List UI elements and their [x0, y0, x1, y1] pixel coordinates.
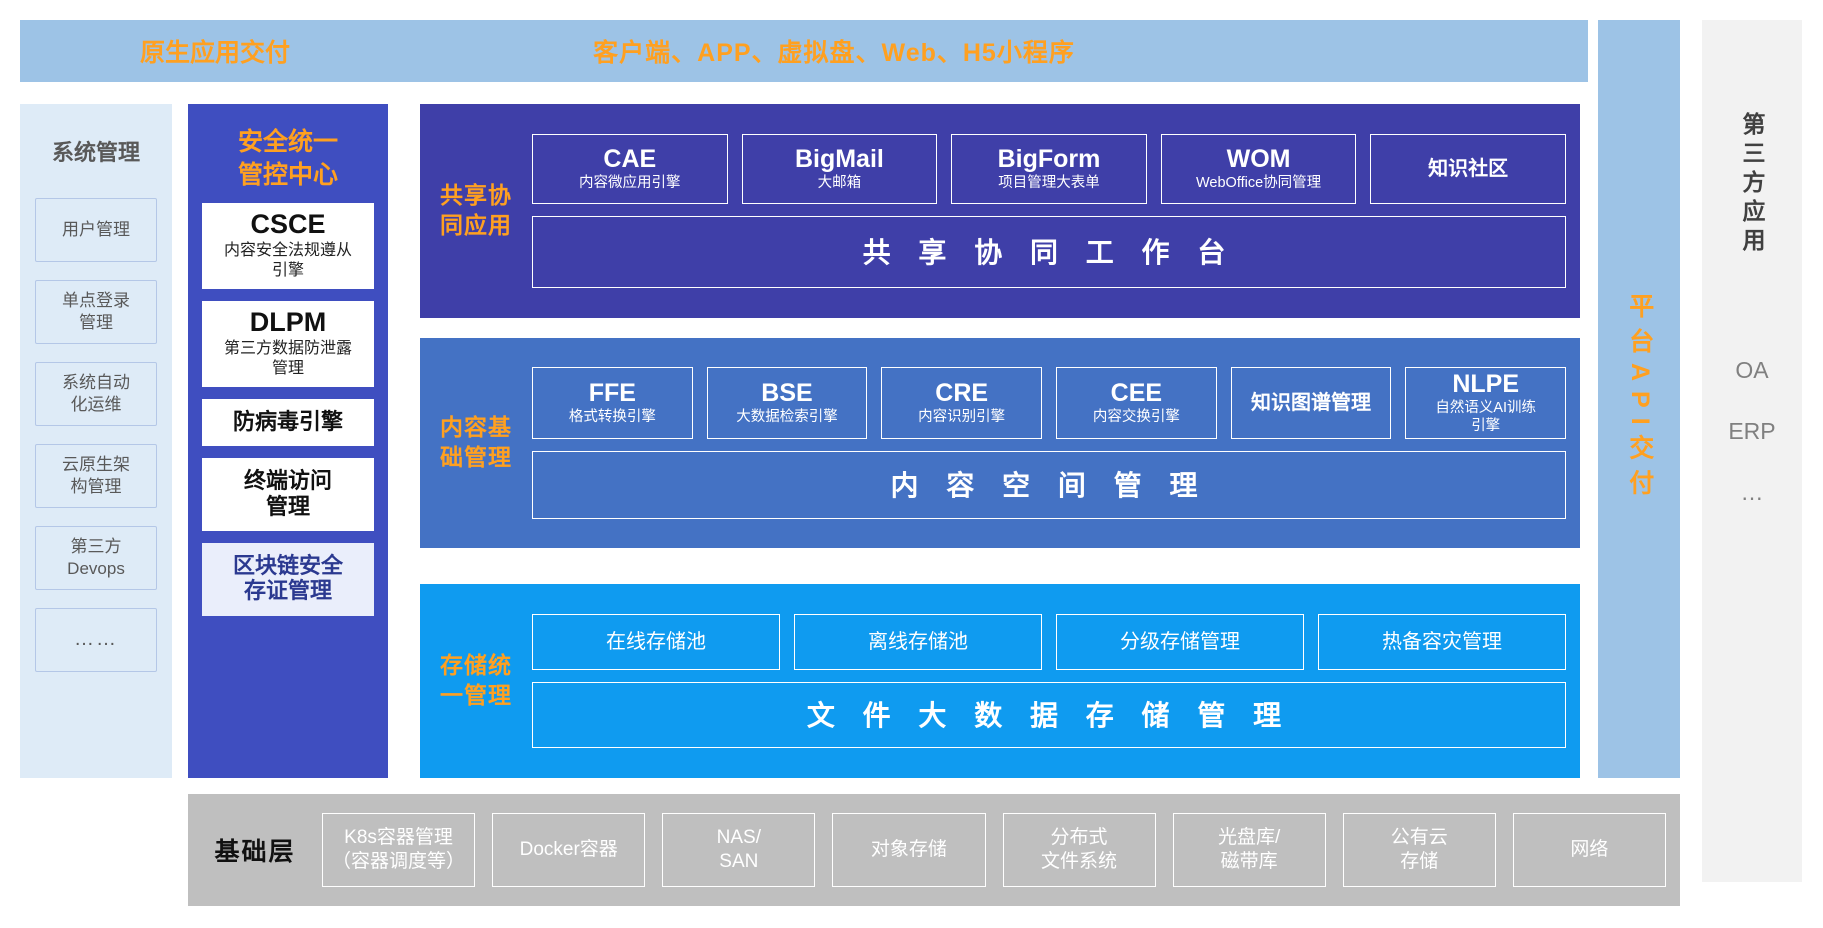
chip-bigform-sub: 项目管理大表单 — [998, 175, 1100, 192]
sys-item-sso-management[interactable]: 单点登录管理 — [35, 280, 157, 344]
chip-cae-title: CAE — [603, 146, 656, 174]
sys-item-automation-ops[interactable]: 系统自动化运维 — [35, 362, 157, 426]
security-box-blockchain-evidence-title: 区块链安全存证管理 — [206, 553, 370, 604]
platform-api-label: 平台API交付 — [1625, 293, 1653, 505]
chip-online-storage-pool[interactable]: 在线存储池 — [532, 614, 780, 670]
base-chip-k8s[interactable]: K8s容器管理（容器调度等） — [322, 813, 475, 887]
third-party-item-erp: ERP — [1728, 418, 1775, 445]
chip-knowledge-graph[interactable]: 知识图谱管理 — [1231, 367, 1392, 439]
base-chip-object-storage[interactable]: 对象存储 — [832, 813, 985, 887]
layer-storage-management-label: 存储统一管理 — [420, 651, 532, 711]
chip-cae-sub: 内容微应用引擎 — [579, 175, 681, 192]
security-center-column: 安全统一管控中心 CSCE 内容安全法规遵从引擎 DLPM 第三方数据防泄露管理… — [188, 104, 388, 778]
platform-api-column: 平台API交付 — [1598, 20, 1680, 778]
sys-item-third-party-devops[interactable]: 第三方Devops — [35, 526, 157, 590]
chip-cre[interactable]: CRE 内容识别引擎 — [881, 367, 1042, 439]
layer-storage-management: 存储统一管理 在线存储池 离线存储池 分级存储管理 热备容灾管理 文 件 大 数… — [420, 584, 1580, 778]
chip-tiered-storage-management-title: 分级存储管理 — [1120, 631, 1240, 653]
chip-knowledge-graph-title: 知识图谱管理 — [1251, 392, 1371, 414]
base-chip-public-cloud-storage[interactable]: 公有云存储 — [1343, 813, 1496, 887]
chip-ffe[interactable]: FFE 格式转换引擎 — [532, 367, 693, 439]
chip-hot-standby-dr-management[interactable]: 热备容灾管理 — [1318, 614, 1566, 670]
third-party-item-more: … — [1741, 479, 1764, 506]
chip-bigform-title: BigForm — [998, 146, 1101, 174]
security-box-terminal-access-title: 终端访问管理 — [206, 468, 370, 519]
chip-cae[interactable]: CAE 内容微应用引擎 — [532, 134, 728, 204]
security-box-csce[interactable]: CSCE 内容安全法规遵从引擎 — [202, 203, 374, 289]
base-layer-label: 基础层 — [188, 832, 322, 868]
chip-cee-title: CEE — [1111, 380, 1162, 408]
chip-bigmail-title: BigMail — [795, 146, 884, 174]
security-box-dlpm-sub: 第三方数据防泄露管理 — [206, 339, 370, 379]
layer-content-management: 内容基础管理 FFE 格式转换引擎 BSE 大数据检索引擎 CRE 内容识别引擎… — [420, 338, 1580, 548]
chip-bse-title: BSE — [761, 380, 812, 408]
system-management-title: 系统管理 — [20, 138, 172, 168]
layer-content-management-label: 内容基础管理 — [420, 413, 532, 473]
architecture-diagram: 原生应用交付 客户端、APP、虚拟盘、Web、H5小程序 平台API交付 第三方… — [0, 0, 1823, 928]
security-center-title: 安全统一管控中心 — [188, 104, 388, 191]
base-layer: 基础层 K8s容器管理（容器调度等） Docker容器 NAS/SAN 对象存储… — [188, 794, 1680, 906]
security-box-dlpm-title: DLPM — [206, 307, 370, 338]
base-chip-docker[interactable]: Docker容器 — [492, 813, 645, 887]
base-chip-optical-tape-library[interactable]: 光盘库/磁带库 — [1173, 813, 1326, 887]
layer-shared-collaboration: 共享协同应用 CAE 内容微应用引擎 BigMail 大邮箱 BigForm 项… — [420, 104, 1580, 318]
chip-cre-title: CRE — [935, 380, 988, 408]
sys-item-cloud-native-arch[interactable]: 云原生架构管理 — [35, 444, 157, 508]
security-box-antivirus[interactable]: 防病毒引擎 — [202, 399, 374, 446]
chip-online-storage-pool-title: 在线存储池 — [606, 631, 706, 653]
chip-cee-sub: 内容交换引擎 — [1093, 409, 1180, 426]
chip-bigform[interactable]: BigForm 项目管理大表单 — [951, 134, 1147, 204]
chip-hot-standby-dr-management-title: 热备容灾管理 — [1382, 631, 1502, 653]
chip-cee[interactable]: CEE 内容交换引擎 — [1056, 367, 1217, 439]
chip-nlpe[interactable]: NLPE 自然语义AI训练引擎 — [1405, 367, 1566, 439]
chip-ffe-sub: 格式转换引擎 — [569, 409, 656, 426]
third-party-item-oa: OA — [1735, 357, 1768, 384]
chip-knowledge-community-title: 知识社区 — [1428, 158, 1508, 180]
third-party-column: 第三方应用 OA ERP … — [1702, 20, 1802, 882]
chip-knowledge-community[interactable]: 知识社区 — [1370, 134, 1566, 204]
file-bigdata-storage-bar[interactable]: 文 件 大 数 据 存 储 管 理 — [532, 682, 1566, 748]
security-box-dlpm[interactable]: DLPM 第三方数据防泄露管理 — [202, 301, 374, 387]
chip-bigmail-sub: 大邮箱 — [818, 175, 862, 192]
chip-cre-sub: 内容识别引擎 — [918, 409, 1005, 426]
chip-offline-storage-pool[interactable]: 离线存储池 — [794, 614, 1042, 670]
security-box-blockchain-evidence[interactable]: 区块链安全存证管理 — [202, 543, 374, 616]
chip-wom-sub: WebOffice协同管理 — [1196, 175, 1321, 192]
system-management-column: 系统管理 用户管理 单点登录管理 系统自动化运维 云原生架构管理 第三方Devo… — [20, 104, 172, 778]
third-party-title: 第三方应用 — [1735, 112, 1769, 257]
security-box-csce-sub: 内容安全法规遵从引擎 — [206, 241, 370, 281]
sys-item-user-management[interactable]: 用户管理 — [35, 198, 157, 262]
base-chip-network[interactable]: 网络 — [1513, 813, 1666, 887]
chip-bse-sub: 大数据检索引擎 — [736, 409, 838, 426]
chip-nlpe-title: NLPE — [1452, 371, 1519, 399]
chip-offline-storage-pool-title: 离线存储池 — [868, 631, 968, 653]
native-app-delivery-banner: 原生应用交付 客户端、APP、虚拟盘、Web、H5小程序 — [20, 20, 1588, 82]
chip-bse[interactable]: BSE 大数据检索引擎 — [707, 367, 868, 439]
client-channels-label: 客户端、APP、虚拟盘、Web、H5小程序 — [410, 33, 1588, 69]
native-app-delivery-label: 原生应用交付 — [20, 33, 410, 69]
chip-wom[interactable]: WOM WebOffice协同管理 — [1161, 134, 1357, 204]
sys-item-more[interactable]: …… — [35, 608, 157, 672]
security-box-antivirus-title: 防病毒引擎 — [206, 409, 370, 434]
base-chip-nas-san[interactable]: NAS/SAN — [662, 813, 815, 887]
chip-ffe-title: FFE — [589, 380, 636, 408]
security-box-csce-title: CSCE — [206, 209, 370, 240]
chip-nlpe-sub: 自然语义AI训练引擎 — [1435, 400, 1536, 435]
layer-shared-collaboration-label: 共享协同应用 — [420, 181, 532, 241]
base-chip-distributed-fs[interactable]: 分布式文件系统 — [1003, 813, 1156, 887]
chip-tiered-storage-management[interactable]: 分级存储管理 — [1056, 614, 1304, 670]
content-space-management-bar[interactable]: 内 容 空 间 管 理 — [532, 451, 1566, 519]
shared-collaboration-workbench-bar[interactable]: 共 享 协 同 工 作 台 — [532, 216, 1566, 288]
chip-wom-title: WOM — [1227, 146, 1291, 174]
security-box-terminal-access[interactable]: 终端访问管理 — [202, 458, 374, 531]
chip-bigmail[interactable]: BigMail 大邮箱 — [742, 134, 938, 204]
